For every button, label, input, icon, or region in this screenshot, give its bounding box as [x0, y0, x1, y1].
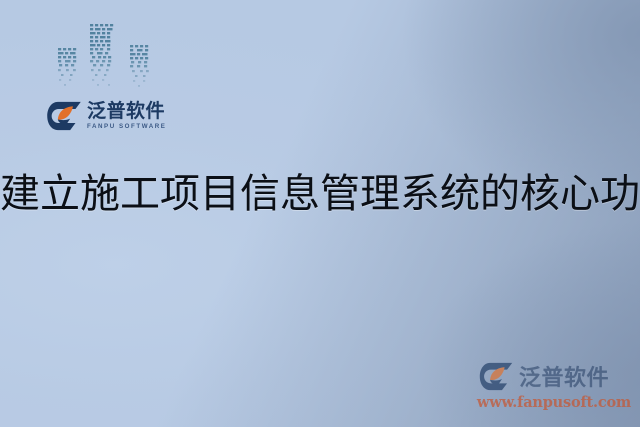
pixel-skyline-graphic [50, 18, 168, 98]
watermark: 泛普软件 www.fanpusoft.com [474, 359, 634, 417]
slide-canvas: 泛普软件 FANPU SOFTWARE 建立施工项目信息管理系统的核心功能 泛普… [0, 0, 640, 427]
watermark-url: www.fanpusoft.com [474, 394, 634, 411]
watermark-name-cn: 泛普软件 [519, 360, 609, 392]
fanpu-logo-mark-icon [478, 362, 514, 391]
fanpu-logo: 泛普软件 FANPU SOFTWARE [46, 96, 176, 136]
watermark-logo: 泛普软件 [474, 359, 634, 393]
fanpu-logo-wordmark: 泛普软件 FANPU SOFTWARE [87, 102, 166, 130]
fanpu-logo-name-cn: 泛普软件 [87, 102, 166, 121]
brand-block: 泛普软件 FANPU SOFTWARE [44, 12, 174, 137]
fanpu-logo-mark-icon [46, 101, 82, 131]
page-title: 建立施工项目信息管理系统的核心功能 [0, 168, 640, 220]
fanpu-logo-name-en: FANPU SOFTWARE [87, 124, 166, 130]
